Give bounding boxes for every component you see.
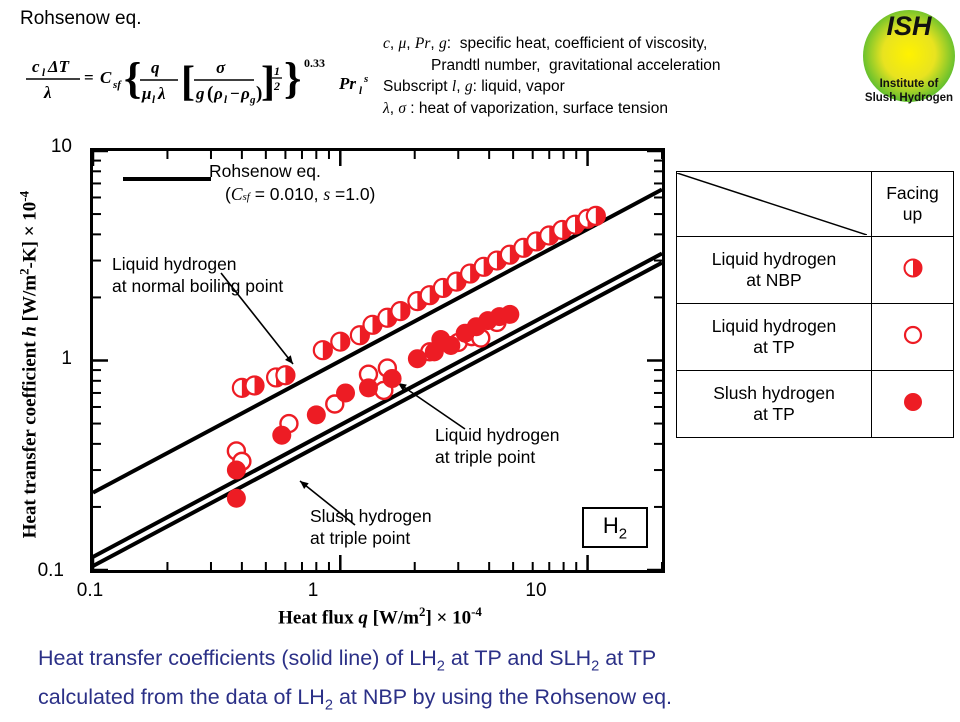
- svg-text:g: g: [195, 84, 205, 103]
- x-tick-10: 10: [506, 580, 566, 602]
- table-marker-half-filled: [872, 237, 954, 304]
- row-label-line2: at NBP: [680, 270, 868, 291]
- svg-text:=: =: [84, 68, 94, 87]
- inset-label-text: H2: [603, 513, 627, 542]
- x-tick-0.1: 0.1: [60, 580, 120, 602]
- marker-legend-table: Facing up Liquid hydrogen at NBP Liquid …: [676, 171, 954, 438]
- svg-text:1: 1: [274, 64, 280, 78]
- svg-text:Pr: Pr: [338, 74, 356, 93]
- svg-text:μ: μ: [141, 84, 151, 103]
- table-row: Liquid hydrogen at NBP: [677, 237, 954, 304]
- svg-text:ρ: ρ: [240, 84, 250, 103]
- row-label-line2: at TP: [680, 337, 868, 358]
- col-header-line2: up: [875, 204, 950, 225]
- nomenclature-block: c, μ, Pr, g: specific heat, coefficient …: [383, 33, 853, 119]
- y-tick-0.1: 0.1: [18, 560, 64, 582]
- svg-text:q: q: [151, 58, 160, 77]
- table-col-header-facing-up: Facing up: [872, 172, 954, 237]
- table-marker-open: [872, 304, 954, 371]
- svg-text:−: −: [230, 84, 240, 103]
- table-row-label-slh2-tp: Slush hydrogen at TP: [677, 371, 872, 438]
- svg-text:]: ]: [261, 59, 275, 105]
- annotation-lh2-tp-line2: at triple point: [435, 446, 560, 468]
- table-marker-filled: [872, 371, 954, 438]
- row-label-line1: Liquid hydrogen: [680, 249, 868, 270]
- logo-line1: Institute of: [880, 78, 939, 90]
- svg-text:2: 2: [273, 79, 280, 93]
- svg-text:c: c: [32, 57, 40, 76]
- annotation-lh2-nbp-line2: at normal boiling point: [112, 275, 283, 297]
- figure-caption: Heat transfer coefficients (solid line) …: [38, 643, 938, 722]
- page-title: Rohsenow eq.: [20, 8, 141, 30]
- inset-label-h2: H2: [582, 507, 648, 548]
- svg-text:(: (: [207, 83, 213, 104]
- nomenclature-line-1: c, μ, Pr, g: specific heat, coefficient …: [383, 33, 853, 55]
- col-header-line1: Facing: [875, 183, 950, 204]
- svg-text:sf: sf: [112, 79, 122, 91]
- svg-text:l: l: [224, 94, 228, 106]
- annotation-slh2-tp-line1: Slush hydrogen: [310, 505, 432, 527]
- row-label-line1: Liquid hydrogen: [680, 316, 868, 337]
- y-tick-10: 10: [26, 136, 72, 158]
- caption-line-1: Heat transfer coefficients (solid line) …: [38, 643, 938, 682]
- nomenclature-line-2: Prandtl number, gravitational accelerati…: [383, 55, 853, 77]
- table-row: Liquid hydrogen at TP: [677, 304, 954, 371]
- table-row: Slush hydrogen at TP: [677, 371, 954, 438]
- annotation-slh2-tp: Slush hydrogen at triple point: [310, 505, 432, 549]
- row-label-line1: Slush hydrogen: [680, 383, 868, 404]
- table-row-header: Facing up: [677, 172, 954, 237]
- svg-text:C: C: [100, 68, 112, 87]
- nomenclature-line-4: λ, σ : heat of vaporization, surface ten…: [383, 98, 853, 120]
- nomenclature-line-3: Subscript l, g: liquid, vapor: [383, 76, 853, 98]
- diagonal-divider-icon: [677, 173, 867, 235]
- table-row-label-lh2-nbp: Liquid hydrogen at NBP: [677, 237, 872, 304]
- svg-text:{: {: [124, 54, 141, 103]
- x-axis-label: Heat flux q [W/m2] × 10-4: [180, 604, 580, 629]
- svg-text:}: }: [284, 54, 301, 103]
- logo-abbr: ISH: [886, 11, 932, 41]
- svg-text:λ: λ: [157, 84, 166, 103]
- legend-line-label: Rohsenow eq.: [209, 160, 375, 183]
- ish-logo: ISH Institute of Slush Hydrogen: [862, 4, 956, 116]
- annotation-slh2-tp-line2: at triple point: [310, 527, 432, 549]
- svg-text:ρ: ρ: [213, 84, 223, 103]
- annotation-lh2-tp-line1: Liquid hydrogen: [435, 424, 560, 446]
- legend-params: (Csf = 0.010, s =1.0): [209, 183, 375, 209]
- chart-legend: Rohsenow eq. (Csf = 0.010, s =1.0): [209, 160, 375, 209]
- svg-text:l: l: [152, 94, 156, 106]
- logo-line2: Slush Hydrogen: [865, 92, 953, 104]
- table-row-label-lh2-tp: Liquid hydrogen at TP: [677, 304, 872, 371]
- row-label-line2: at TP: [680, 404, 868, 425]
- svg-text:l: l: [42, 67, 46, 79]
- table-corner-cell: [677, 172, 872, 237]
- half-filled-circle-icon: [902, 257, 924, 279]
- annotation-lh2-nbp-line1: Liquid hydrogen: [112, 253, 283, 275]
- svg-text:σ: σ: [216, 58, 226, 77]
- svg-text:0.33: 0.33: [304, 56, 325, 70]
- svg-text:g: g: [249, 94, 256, 106]
- open-circle-icon: [902, 324, 924, 346]
- svg-text:ΔT: ΔT: [47, 57, 70, 76]
- svg-text:l: l: [359, 85, 363, 97]
- annotation-lh2-tp: Liquid hydrogen at triple point: [435, 424, 560, 468]
- caption-line-2: calculated from the data of LH2 at NBP b…: [38, 682, 938, 721]
- svg-text:[: [: [181, 59, 195, 105]
- svg-text:s: s: [363, 73, 368, 85]
- annotation-lh2-nbp: Liquid hydrogen at normal boiling point: [112, 253, 283, 297]
- x-tick-1: 1: [283, 580, 343, 602]
- svg-text:λ: λ: [43, 83, 52, 102]
- rohsenow-equation: c l ΔT λ = C sf { q μ l λ [ σ g ( ρ l − …: [18, 45, 378, 117]
- y-tick-1: 1: [26, 348, 72, 370]
- filled-circle-icon: [902, 391, 924, 413]
